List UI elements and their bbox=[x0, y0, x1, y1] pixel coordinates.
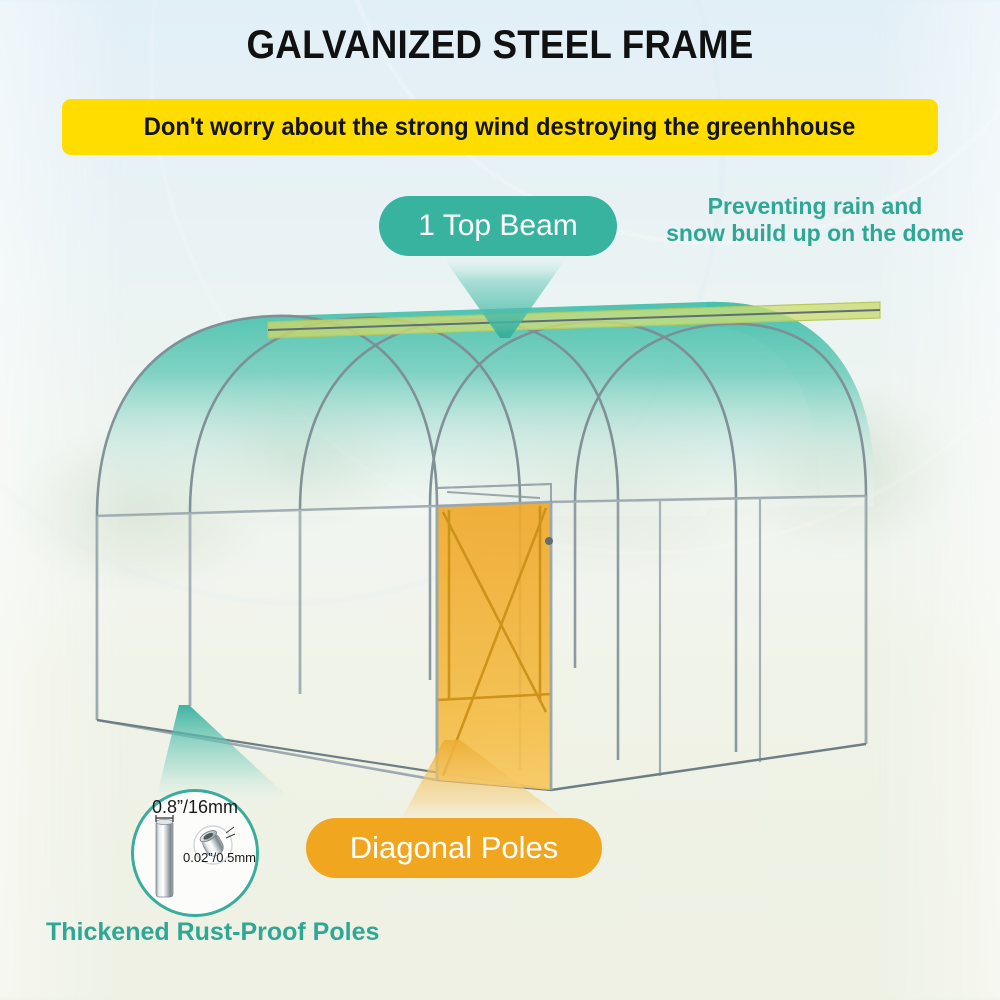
dome-note-line-1: Preventing rain and bbox=[640, 193, 990, 220]
top-beam-pointer-cone bbox=[430, 250, 580, 340]
dome-note: Preventing rain and snow build up on the… bbox=[640, 193, 990, 247]
pole-tube-graphic bbox=[156, 821, 173, 897]
pole-wall-thickness-label: 0.02”/0.5mm bbox=[183, 850, 256, 865]
callout-top-beam: 1 Top Beam bbox=[379, 196, 617, 256]
dome-note-line-2: snow build up on the dome bbox=[640, 220, 990, 247]
callout-diagonal-poles-label: Diagonal Poles bbox=[350, 830, 559, 866]
pole-diameter-label: 0.8”/16mm bbox=[152, 797, 238, 818]
callout-top-beam-label: 1 Top Beam bbox=[418, 209, 578, 243]
infographic-root: 0.8”/16mm 0.02”/0.5mm GALVANIZED STEEL F… bbox=[0, 0, 1000, 1000]
callout-diagonal-poles: Diagonal Poles bbox=[306, 818, 602, 878]
poles-note: Thickened Rust-Proof Poles bbox=[46, 918, 379, 947]
door-hinge-icon bbox=[545, 537, 553, 545]
